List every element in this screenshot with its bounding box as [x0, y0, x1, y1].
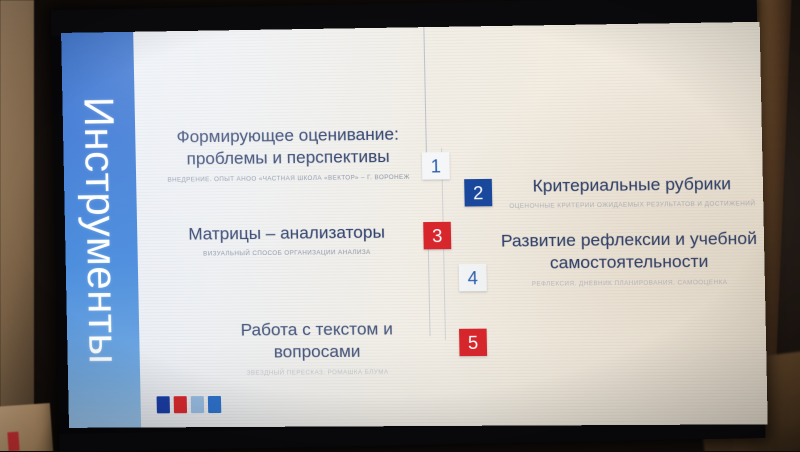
slide-sidebar: Инструменты: [61, 32, 141, 428]
agenda-item-5-title-line2: вопросами: [196, 341, 440, 365]
slide-canvas: Инструменты Формирующее оценивание: проб…: [61, 22, 768, 428]
box-red-marking: [7, 432, 19, 451]
agenda-item-5-subtitle: ЗВЕЗДНЫЙ ПЕРЕСКАЗ. РОМАШКА БЛУМА: [196, 368, 439, 377]
agenda-marker-2[interactable]: 2: [464, 179, 492, 207]
agenda-item-3-title: Матрицы – анализаторы: [157, 221, 416, 246]
logo-swatch-1: [157, 396, 170, 413]
agenda-item-5[interactable]: Работа с текстом и вопросами ЗВЕЗДНЫЙ ПЕ…: [195, 318, 439, 378]
agenda-item-1-title-line1: Формирующее оценивание:: [161, 123, 414, 149]
sidebar-title: Инструменты: [74, 96, 127, 364]
agenda-marker-3-label: 3: [432, 226, 443, 244]
agenda-item-3[interactable]: Матрицы – анализаторы ВИЗУАЛЬНЫЙ СПОСОБ …: [157, 221, 417, 259]
agenda-item-1-subtitle: ВНЕДРЕНИЕ. ОПЫТ АНОО «ЧАСТНАЯ ШКОЛА «ВЕК…: [162, 174, 415, 185]
agenda-marker-2-label: 2: [473, 184, 484, 202]
agenda-item-2[interactable]: Критериальные рубрики ОЦЕНОЧНЫЕ КРИТЕРИИ…: [497, 173, 768, 212]
agenda-item-4-title-line2: самостоятельности: [490, 250, 768, 275]
logo-swatch-4: [208, 396, 221, 413]
agenda-item-3-title-line1: Матрицы – анализаторы: [157, 221, 416, 246]
agenda-item-2-title-line1: Критериальные рубрики: [497, 173, 767, 199]
left-wall: [0, 0, 34, 451]
agenda-item-4-subtitle: РЕФЛЕКСИЯ. ДНЕВНИК ПЛАНИРОВАНИЯ. САМООЦЕ…: [491, 278, 768, 288]
agenda-item-4-title: Развитие рефлексии и учебной самостоятел…: [490, 228, 768, 276]
agenda-item-4[interactable]: Развитие рефлексии и учебной самостоятел…: [490, 228, 768, 289]
agenda-item-1[interactable]: Формирующее оценивание: проблемы и персп…: [161, 123, 415, 184]
agenda-item-1-title-line2: проблемы и перспективы: [162, 146, 415, 172]
agenda-item-5-title: Работа с текстом и вопросами: [195, 318, 439, 365]
logo-swatch-2: [174, 396, 187, 413]
agenda-item-5-title-line1: Работа с текстом и: [195, 318, 439, 342]
agenda-marker-1[interactable]: 1: [422, 152, 450, 180]
agenda-marker-4-label: 4: [467, 269, 478, 287]
organization-logo: [157, 396, 222, 413]
agenda-item-2-title: Критериальные рубрики: [497, 173, 767, 199]
agenda-marker-3[interactable]: 3: [423, 222, 451, 250]
agenda-item-4-title-line1: Развитие рефлексии и учебной: [490, 228, 768, 254]
presentation-screen: Инструменты Формирующее оценивание: проб…: [51, 0, 766, 452]
logo-swatch-3: [191, 396, 204, 413]
agenda-marker-4[interactable]: 4: [459, 264, 487, 292]
agenda-item-1-title: Формирующее оценивание: проблемы и персп…: [161, 123, 415, 171]
agenda-marker-5-label: 5: [468, 333, 479, 351]
agenda-item-3-subtitle: ВИЗУАЛЬНЫЙ СПОСОБ ОРГАНИЗАЦИИ АНАЛИЗА: [158, 249, 417, 259]
agenda-marker-5[interactable]: 5: [459, 329, 487, 356]
agenda-item-2-subtitle: ОЦЕНОЧНЫЕ КРИТЕРИИ ОЖИДАЕМЫХ РЕЗУЛЬТАТОВ…: [497, 201, 767, 212]
agenda-marker-1-label: 1: [431, 157, 442, 175]
